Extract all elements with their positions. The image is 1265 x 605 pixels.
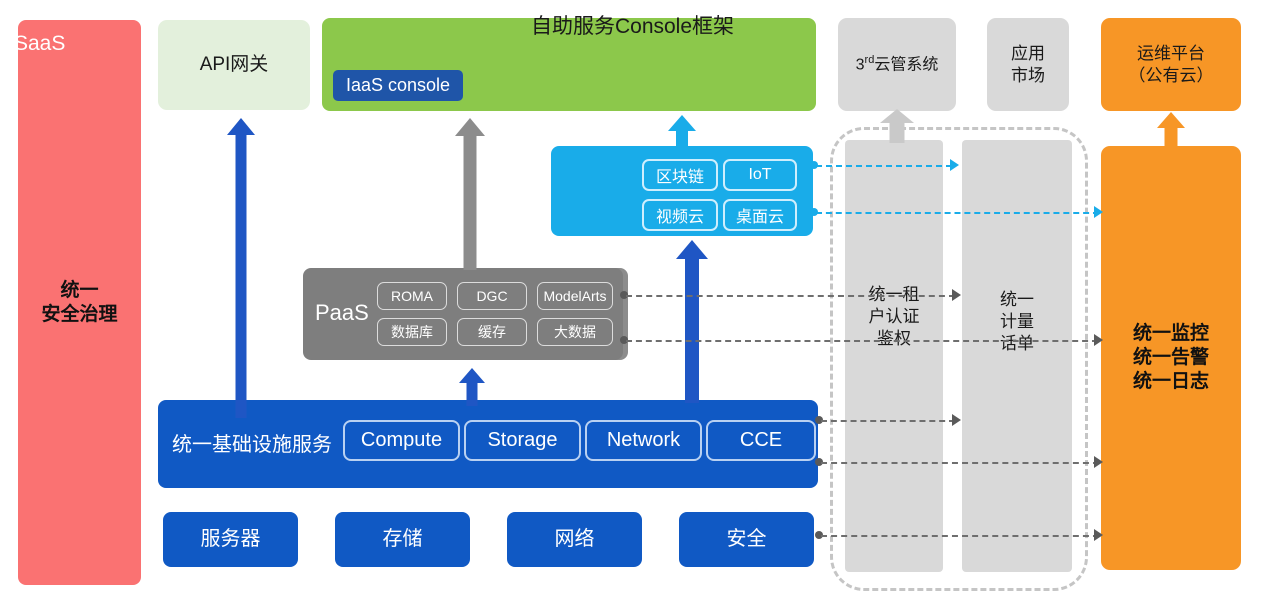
app-market-box[interactable]: 应用 市场: [987, 18, 1069, 111]
third-party-cloud-management-box[interactable]: 3rd云管系统: [838, 18, 956, 111]
infra-chip-network-label: Network: [607, 429, 680, 452]
arrow-saas-to-console: [668, 115, 696, 149]
saas-chip-desktop-cloud-label: 桌面云: [736, 203, 784, 227]
unified-metering-column[interactable]: [962, 140, 1072, 572]
resource-box-storage-label: 存储: [383, 527, 423, 552]
resource-box-server-label: 服务器: [201, 527, 261, 552]
resource-box-network[interactable]: 网络: [507, 512, 642, 567]
paas-chip-modelarts[interactable]: ModelArts: [537, 282, 613, 310]
connector-infra-to-ops: [821, 462, 1099, 464]
connector-saas-to-ops: [816, 212, 1099, 214]
paas-chip-database-label: 数据库: [391, 322, 433, 342]
paas-chip-roma[interactable]: ROMA: [377, 282, 447, 310]
resource-box-network-label: 网络: [555, 527, 595, 552]
paas-chip-cache-label: 缓存: [478, 322, 506, 342]
paas-chip-roma-label: ROMA: [391, 288, 433, 304]
paas-chip-cache[interactable]: 缓存: [457, 318, 527, 346]
connector-arrowhead-infra-ops: [1094, 456, 1103, 468]
infra-chip-storage-label: Storage: [487, 429, 557, 452]
infra-chip-storage[interactable]: Storage: [464, 420, 581, 461]
arrow-infra-to-paas: [458, 368, 486, 404]
paas-chip-modelarts-label: ModelArts: [543, 288, 606, 304]
third-party-cloud-label: 3rd云管系统: [856, 54, 939, 75]
ops-monitoring-label: 统一监控 统一告警 统一日志: [1133, 322, 1209, 393]
architecture-diagram: 统一 安全治理 API网关 自助服务Console框架 IaaS console…: [0, 0, 1265, 605]
infra-chip-cce[interactable]: CCE: [706, 420, 816, 461]
saas-chip-video-cloud-label: 视频云: [656, 203, 704, 227]
connector-arrowhead-resources-ops: [1094, 529, 1103, 541]
security-governance-column[interactable]: 统一 安全治理: [18, 20, 141, 585]
saas-chip-desktop-cloud[interactable]: 桌面云: [723, 199, 797, 231]
resource-box-security-label: 安全: [727, 527, 767, 552]
connector-paas-to-ops: [626, 340, 1098, 342]
connector-saas-to-auth: [816, 165, 952, 167]
saas-panel-label: SaaS: [14, 32, 65, 56]
iaas-console-button[interactable]: IaaS console: [333, 70, 463, 101]
arrow-infra-to-saas: [676, 240, 708, 402]
infra-chip-network[interactable]: Network: [585, 420, 702, 461]
infrastructure-panel-label: 统一基础设施服务: [172, 428, 332, 457]
infra-chip-compute[interactable]: Compute: [343, 420, 460, 461]
paas-chip-dgc[interactable]: DGC: [457, 282, 527, 310]
ops-platform-public-cloud-label: 运维平台 （公有云）: [1129, 43, 1214, 86]
arrow-paas-to-console: [455, 118, 485, 270]
paas-chip-bigdata-label: 大数据: [554, 322, 596, 342]
api-gateway-label: API网关: [200, 53, 269, 77]
saas-chip-blockchain-label: 区块链: [656, 163, 704, 187]
connector-arrowhead-paas-auth: [952, 289, 961, 301]
saas-chip-iot[interactable]: IoT: [723, 159, 797, 191]
paas-chip-database[interactable]: 数据库: [377, 318, 447, 346]
resource-box-security[interactable]: 安全: [679, 512, 814, 567]
arrow-infra-to-api-gateway: [227, 118, 255, 418]
connector-arrowhead-saas-ops: [1094, 206, 1103, 218]
ops-platform-public-cloud-box[interactable]: 运维平台 （公有云）: [1101, 18, 1241, 111]
ops-monitoring-column[interactable]: 统一监控 统一告警 统一日志: [1101, 146, 1241, 570]
saas-chip-iot-label: IoT: [748, 166, 771, 184]
iaas-console-label: IaaS console: [346, 75, 450, 96]
connector-arrowhead-infra-auth: [952, 414, 961, 426]
connector-infra-to-auth: [821, 420, 955, 422]
infra-chip-compute-label: Compute: [361, 429, 442, 452]
arrow-ops-main-to-ops-top: [1157, 112, 1185, 150]
saas-chip-blockchain[interactable]: 区块链: [642, 159, 718, 191]
security-governance-label: 统一 安全治理: [41, 279, 117, 327]
unified-auth-column[interactable]: [845, 140, 943, 572]
paas-panel-label: PaaS: [315, 300, 369, 326]
connector-resources-to-ops: [821, 535, 1099, 537]
resource-box-server[interactable]: 服务器: [163, 512, 298, 567]
paas-chip-dgc-label: DGC: [476, 288, 507, 304]
saas-chip-video-cloud[interactable]: 视频云: [642, 199, 718, 231]
app-market-label: 应用 市场: [1011, 43, 1045, 86]
resource-box-storage[interactable]: 存储: [335, 512, 470, 567]
infra-chip-cce-label: CCE: [740, 429, 782, 452]
paas-chip-bigdata[interactable]: 大数据: [537, 318, 613, 346]
console-framework-title: 自助服务Console框架: [0, 10, 1265, 40]
unified-metering-label: 统一 计量 话单: [962, 289, 1072, 355]
connector-paas-to-auth: [626, 295, 955, 297]
arrow-shared-to-third-party-cloud: [880, 109, 914, 141]
connector-arrowhead-saas-auth: [950, 159, 959, 171]
connector-arrowhead-paas-ops: [1094, 334, 1103, 346]
